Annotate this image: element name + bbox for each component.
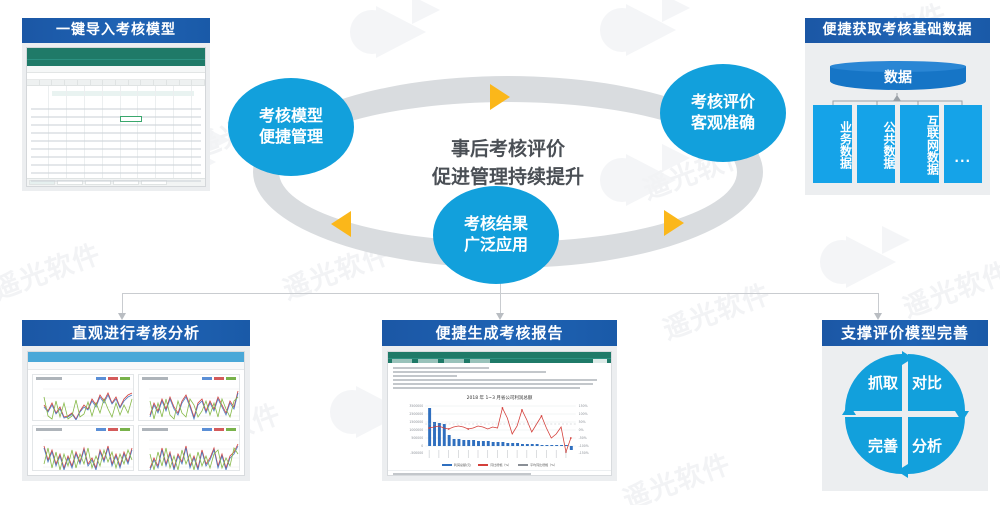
quadrant-label: 分析 (912, 435, 942, 456)
panel-import-model: 一键导入考核模型 (22, 18, 210, 191)
arrow-down-icon (874, 313, 882, 320)
spreadsheet-menu-bar (27, 59, 205, 66)
triangle-arrow-icon (490, 84, 510, 110)
panel-support-title: 支撑评价模型完善 (822, 320, 988, 346)
panel-data-sources: 便捷获取考核基础数据 数据 业务数据 公共数据 互联网数据 (805, 18, 990, 195)
cycle-bubble-result[interactable]: 考核结果 广泛应用 (433, 186, 559, 284)
mini-line-chart[interactable] (138, 374, 240, 421)
svg-text:500000: 500000 (411, 436, 423, 440)
cycle-arrow-icon (897, 464, 908, 478)
data-source-internet[interactable]: 互联网数据 (900, 105, 939, 183)
dashboard-header (28, 352, 244, 362)
panel-data-sources-title: 便捷获取考核基础数据 (805, 18, 990, 43)
data-source-public[interactable]: 公共数据 (857, 105, 896, 183)
svg-text:1500000: 1500000 (409, 420, 423, 424)
panel-support-body: 抓取 对比 完善 分析 (822, 346, 988, 491)
legend-label: 利润总额(元) (454, 463, 471, 467)
cycle-bubble-line-1: 考核结果 (464, 214, 528, 235)
panel-import-model-title: 一键导入考核模型 (22, 18, 210, 43)
data-source-list: 业务数据 公共数据 互联网数据 ... (813, 105, 982, 183)
report-chart-title: 2018 年 1~3 月省公司利润总额 (392, 395, 607, 401)
report-chart-legend: 利润总额(元) 同比增幅（%） 平均同比增幅（%） (392, 463, 607, 467)
report-chart[interactable]: 2018 年 1~3 月省公司利润总额 (388, 393, 611, 470)
data-source-business[interactable]: 业务数据 (813, 105, 852, 183)
data-source-label: 公共数据 (857, 110, 896, 180)
spreadsheet-app-header (27, 48, 205, 59)
svg-text:-50%: -50% (579, 436, 587, 440)
panel-report-title: 便捷生成考核报告 (382, 320, 617, 346)
spreadsheet-grid[interactable] (27, 86, 205, 178)
quadrant-improve[interactable]: 完善 (845, 417, 902, 474)
svg-text:-500000: -500000 (410, 451, 423, 455)
infographic-canvas: 遥光软件 遥光软件 遥光软件 遥光软件 遥光软件 遥光软件 遥光软件 遥光软件 … (0, 0, 1000, 505)
mini-line-chart[interactable] (32, 425, 134, 472)
quadrant-label: 对比 (912, 372, 942, 393)
svg-text:50%: 50% (579, 420, 586, 424)
cycle-bubble-line-2: 客观准确 (691, 113, 755, 134)
triangle-arrow-icon (331, 211, 351, 237)
cycle-center-line-1: 事后考核评价 (378, 136, 638, 164)
panel-report: 便捷生成考核报告 2018 年 1~3 月省公司利润总额 (382, 320, 617, 481)
svg-text:0%: 0% (579, 428, 584, 432)
dashboard-filter-bar[interactable] (28, 362, 244, 370)
cycle-bubble-line-2: 广泛应用 (464, 235, 528, 256)
panel-report-body: 2018 年 1~3 月省公司利润总额 (382, 346, 617, 481)
legend-label: 平均同比增幅（%） (530, 463, 557, 467)
cycle-arrow-icon (842, 404, 856, 415)
report-paragraph-block (388, 363, 611, 393)
quadrant-analyze[interactable]: 分析 (908, 417, 965, 474)
panel-analysis: 直观进行考核分析 (22, 320, 250, 481)
watermark-text: 遥光软件 (617, 442, 736, 505)
svg-text:1000000: 1000000 (409, 428, 423, 432)
svg-text:-100%: -100% (579, 444, 589, 448)
spreadsheet-toolbar (27, 66, 205, 73)
svg-text:150%: 150% (579, 404, 588, 408)
report-footnote (388, 470, 611, 475)
spreadsheet-screenshot[interactable] (26, 47, 206, 187)
evaluation-cycle-diagram: 事后考核评价 促进管理持续提升 考核模型 便捷管理 考核评价 客观准确 考核结果… (228, 58, 788, 288)
svg-text:-150%: -150% (579, 451, 589, 455)
panel-analysis-body (22, 346, 250, 481)
data-source-label: 业务数据 (813, 110, 852, 180)
mini-line-chart[interactable] (32, 374, 134, 421)
cycle-bubble-line-1: 考核模型 (259, 106, 323, 127)
spreadsheet-formula-bar (27, 73, 205, 80)
report-screenshot[interactable]: 2018 年 1~3 月省公司利润总额 (387, 351, 612, 476)
analysis-dashboard-screenshot[interactable] (27, 351, 245, 476)
cycle-bubble-model[interactable]: 考核模型 便捷管理 (228, 78, 354, 176)
arrow-down-icon (118, 313, 126, 320)
arrow-down-icon (496, 313, 504, 320)
data-source-more[interactable]: ... (944, 105, 983, 183)
legend-item: 同比增幅（%） (478, 463, 511, 467)
data-source-label: ... (944, 151, 983, 165)
data-source-label: 互联网数据 (900, 110, 939, 180)
svg-text:0: 0 (421, 444, 423, 448)
support-quadrant-circle: 抓取 对比 完善 分析 (845, 354, 965, 474)
cycle-bubble-line-2: 便捷管理 (259, 127, 323, 148)
panel-data-sources-body: 数据 业务数据 公共数据 互联网数据 ... (805, 43, 990, 195)
cycle-center-text: 事后考核评价 促进管理持续提升 (378, 136, 638, 191)
panel-support: 支撑评价模型完善 抓取 对比 完善 分析 (822, 320, 988, 491)
cycle-arrow-icon (955, 411, 969, 422)
mini-line-chart[interactable] (138, 425, 240, 472)
cycle-bubble-evaluation[interactable]: 考核评价 客观准确 (660, 64, 786, 162)
dashboard-chart-grid (28, 370, 244, 475)
panel-analysis-title: 直观进行考核分析 (22, 320, 250, 346)
svg-text:2500000: 2500000 (409, 412, 423, 416)
quadrant-label: 抓取 (868, 372, 898, 393)
quadrant-label: 完善 (868, 435, 898, 456)
cycle-bubble-line-1: 考核评价 (691, 92, 755, 113)
report-chart-plot: 35000002500000 15000001000000 5000000 -5… (392, 402, 607, 458)
flow-connector-tree (0, 283, 1000, 325)
panel-import-model-body (22, 43, 210, 191)
cycle-arrow-icon (902, 351, 913, 365)
quadrant-compare[interactable]: 对比 (908, 354, 965, 411)
legend-item: 利润总额(元) (442, 463, 471, 467)
svg-text:3500000: 3500000 (409, 404, 423, 408)
svg-text:100%: 100% (579, 412, 588, 416)
quadrant-capture[interactable]: 抓取 (845, 354, 902, 411)
triangle-arrow-icon (664, 210, 684, 236)
legend-label: 同比增幅（%） (490, 463, 511, 467)
legend-item: 平均同比增幅（%） (518, 463, 557, 467)
